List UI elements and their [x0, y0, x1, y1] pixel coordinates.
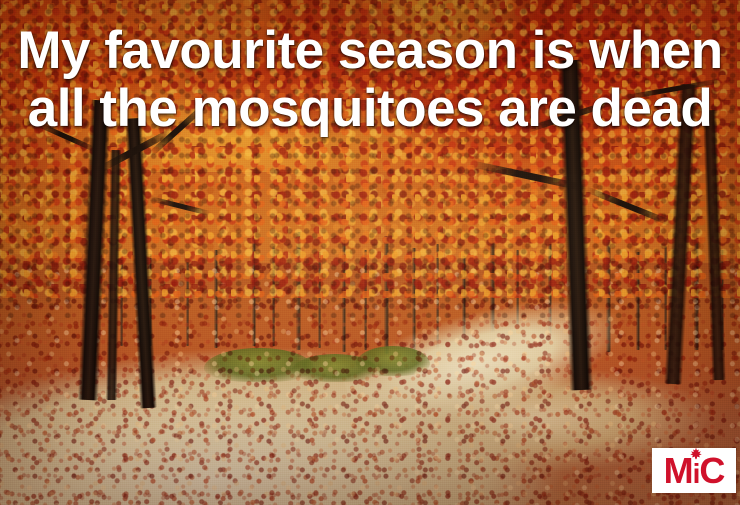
- caption-line-1: My favourite season is when: [8, 22, 732, 80]
- logo-letter-i: i: [693, 460, 700, 488]
- logo-letter-i-glyph: i: [693, 458, 700, 489]
- maple-leaf-icon: [690, 444, 703, 457]
- watermark-logo-mic: MiC: [652, 448, 736, 493]
- logo-letter-c: C: [699, 453, 724, 489]
- meme-caption: My favourite season is when all the mosq…: [0, 22, 740, 138]
- meme-image: My favourite season is when all the mosq…: [0, 0, 740, 505]
- caption-line-2: all the mosquitoes are dead: [8, 80, 732, 138]
- logo-letter-m: M: [664, 453, 693, 489]
- logo-text: MiC: [664, 453, 725, 489]
